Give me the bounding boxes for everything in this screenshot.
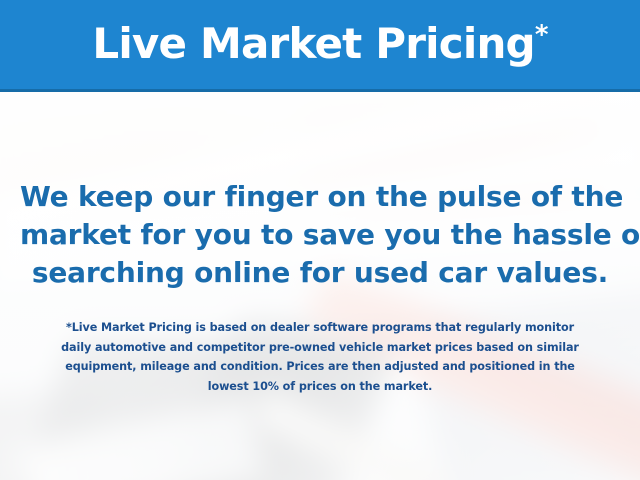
headline-line-3: searching online for used car values. xyxy=(20,254,620,292)
disclaimer-text: *Live Market Pricing is based on dealer … xyxy=(22,318,618,396)
page-title-asterisk: * xyxy=(535,20,548,50)
live-market-pricing-banner: Live Market Pricing* We keep our finger … xyxy=(0,0,640,480)
headline-line-1: We keep our finger on the pulse of the xyxy=(20,178,620,216)
page-title: Live Market Pricing* xyxy=(0,18,640,70)
header-bar: Live Market Pricing* xyxy=(0,0,640,92)
headline: We keep our finger on the pulse of the m… xyxy=(20,178,620,292)
disclaimer-line-4: lowest 10% of prices on the market. xyxy=(22,377,618,397)
disclaimer-line-1: *Live Market Pricing is based on dealer … xyxy=(22,318,618,338)
disclaimer-line-2: daily automotive and competitor pre-owne… xyxy=(22,338,618,358)
headline-line-2: market for you to save you the hassle of xyxy=(20,216,620,254)
disclaimer-line-3: equipment, mileage and condition. Prices… xyxy=(22,357,618,377)
page-title-text: Live Market Pricing xyxy=(92,19,534,68)
